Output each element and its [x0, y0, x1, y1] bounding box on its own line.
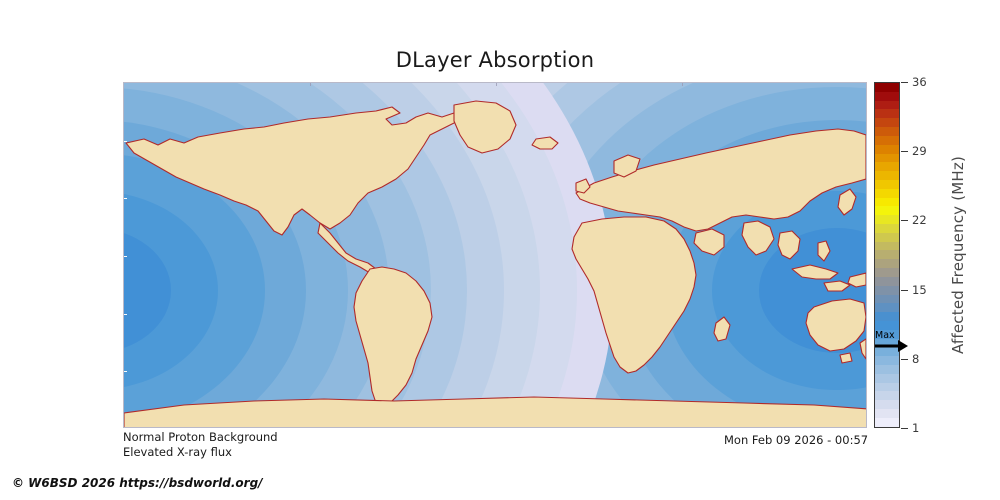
colorbar-tick-label: 29	[912, 144, 927, 158]
colorbar-segment	[875, 250, 899, 259]
colorbar-segment	[875, 259, 899, 268]
colorbar-tick	[901, 220, 908, 221]
colorbar-segment	[875, 233, 899, 242]
colorbar-segment	[875, 330, 899, 339]
figure-canvas: DLayer Absorption	[0, 0, 1000, 500]
colorbar-segment	[875, 206, 899, 215]
colorbar-tick-label: 15	[912, 283, 927, 297]
colorbar-segment	[875, 189, 899, 198]
colorbar-label: Affected Frequency (MHz)	[947, 82, 969, 428]
map-axes[interactable]	[123, 82, 867, 428]
colorbar-tick-label: 8	[912, 352, 919, 366]
colorbar-tick	[901, 290, 908, 291]
xray-status-note: Elevated X-ray flux	[123, 445, 232, 459]
colorbar-tick-label: 36	[912, 75, 927, 89]
colorbar-segment	[875, 356, 899, 365]
colorbar-tick-label: 1	[912, 421, 919, 435]
colorbar-segment	[875, 224, 899, 233]
colorbar-segment	[875, 198, 899, 207]
colorbar-segment	[875, 286, 899, 295]
copyright-label: © W6BSD 2026 https://bsdworld.org/	[12, 476, 263, 490]
colorbar-segment	[875, 154, 899, 163]
colorbar-segment	[875, 295, 899, 304]
colorbar-segment	[875, 339, 899, 348]
colorbar-segment	[875, 391, 899, 400]
colorbar-segment	[875, 83, 899, 92]
colorbar-segment	[875, 145, 899, 154]
colorbar[interactable]	[874, 82, 900, 428]
colorbar-segment	[875, 127, 899, 136]
colorbar-segment	[875, 321, 899, 330]
colorbar-segment	[875, 374, 899, 383]
coastlines-layer	[124, 83, 866, 427]
page-title: DLayer Absorption	[0, 48, 990, 72]
proton-status-note: Normal Proton Background	[123, 430, 278, 444]
colorbar-segment	[875, 365, 899, 374]
colorbar-segment	[875, 180, 899, 189]
colorbar-segment	[875, 171, 899, 180]
colorbar-segment	[875, 277, 899, 286]
colorbar-segment	[875, 118, 899, 127]
colorbar-segment	[875, 268, 899, 277]
colorbar-segment	[875, 418, 899, 427]
colorbar-tick	[901, 82, 908, 83]
colorbar-segment	[875, 383, 899, 392]
colorbar-tick	[901, 151, 908, 152]
colorbar-segment	[875, 162, 899, 171]
colorbar-segment	[875, 400, 899, 409]
colorbar-segment	[875, 347, 899, 356]
colorbar-segment	[875, 409, 899, 418]
colorbar-segment	[875, 242, 899, 251]
colorbar-segment	[875, 303, 899, 312]
colorbar-tick	[901, 359, 908, 360]
map-clip	[124, 83, 866, 427]
colorbar-segment	[875, 312, 899, 321]
colorbar-segment	[875, 109, 899, 118]
colorbar-segment	[875, 136, 899, 145]
colorbar-segment	[875, 101, 899, 110]
colorbar-segment	[875, 215, 899, 224]
timestamp-label: Mon Feb 09 2026 - 00:57	[724, 433, 868, 447]
colorbar-tick-label: 22	[912, 213, 927, 227]
colorbar-segment	[875, 92, 899, 101]
colorbar-tick	[901, 428, 908, 429]
